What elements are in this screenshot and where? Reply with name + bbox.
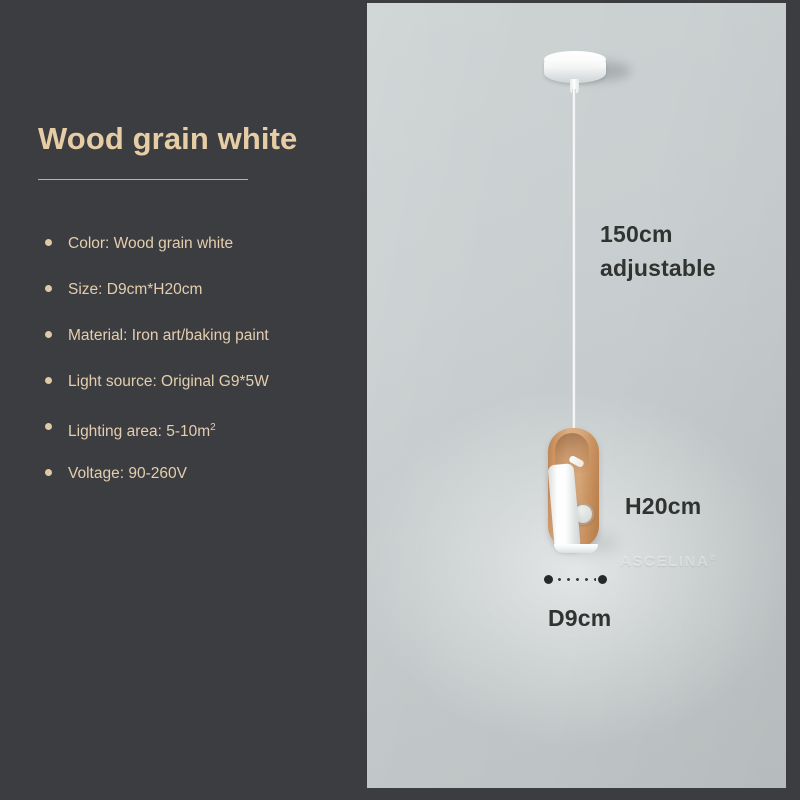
ceiling-canopy-top: [544, 51, 606, 68]
spec-lighting-area-unit-exponent: 2: [210, 422, 216, 433]
dimension-endpoint-dot-right: [598, 575, 607, 584]
bullet-dot-icon: [45, 331, 52, 338]
bullet-dot-icon: [45, 285, 52, 292]
bullet-dot-icon: [45, 423, 52, 430]
list-item: Color: Wood grain white: [40, 233, 360, 279]
brand-watermark-text: ASCELINA: [620, 553, 709, 570]
bullet-dot-icon: [45, 377, 52, 384]
product-spec-image: Wood grain white Color: Wood grain white…: [0, 0, 800, 800]
cord-length-adjustable-label: adjustable: [600, 251, 716, 285]
spec-panel: Wood grain white Color: Wood grain white…: [0, 0, 367, 800]
diameter-dimension-line: [544, 575, 607, 584]
cord-length-annotation: 150cm adjustable: [600, 217, 716, 285]
dimension-endpoint-dot-left: [544, 575, 553, 584]
spec-lighting-area-label: Lighting area: 5-10m: [68, 423, 210, 440]
spec-list: Color: Wood grain white Size: D9cm*H20cm…: [40, 233, 360, 509]
bullet-dot-icon: [45, 239, 52, 246]
list-item: Size: D9cm*H20cm: [40, 279, 360, 325]
brand-watermark: ASCELINA®: [620, 552, 718, 570]
product-photo: 150cm adjustable H20cm D9cm ASCELINA®: [367, 3, 786, 788]
spec-light-source-label: Light source: Original G9*5W: [68, 373, 269, 390]
spec-color-label: Color: Wood grain white: [68, 235, 233, 252]
cord-length-value: 150cm: [600, 217, 716, 251]
spec-material-label: Material: Iron art/baking paint: [68, 327, 269, 344]
spec-size-label: Size: D9cm*H20cm: [68, 281, 202, 298]
registered-trademark-icon: ®: [709, 552, 717, 562]
suspension-cord: [572, 89, 576, 434]
bullet-dot-icon: [45, 469, 52, 476]
list-item: Material: Iron art/baking paint: [40, 325, 360, 371]
list-item: Lighting area: 5-10m2: [40, 417, 360, 463]
spec-voltage-label: Voltage: 90-260V: [68, 465, 187, 482]
title-divider: [38, 179, 248, 180]
diameter-annotation: D9cm: [548, 605, 611, 632]
list-item: Light source: Original G9*5W: [40, 371, 360, 417]
shade-bottom-rim: [554, 544, 598, 553]
page-title: Wood grain white: [38, 121, 297, 157]
photo-sheen-overlay: [367, 3, 786, 788]
height-annotation: H20cm: [625, 493, 701, 520]
dimension-dashed-line: [555, 578, 596, 581]
list-item: Voltage: 90-260V: [40, 463, 360, 509]
pendant-lamp-fixture: [541, 428, 613, 563]
